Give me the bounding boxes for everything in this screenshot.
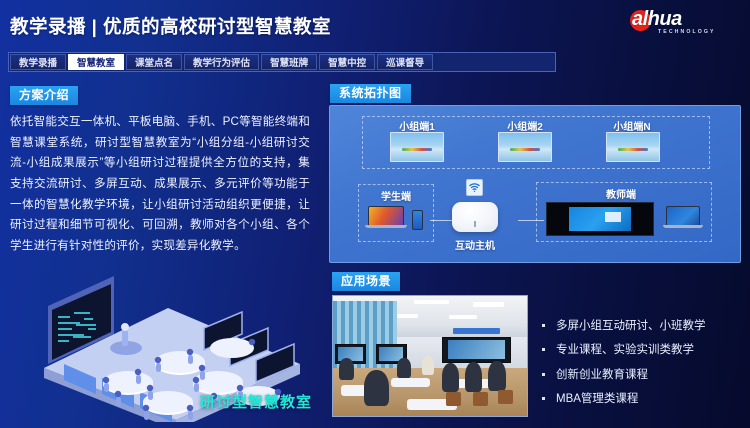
logo-tagline: TECHNOLOGY [658, 29, 716, 35]
tab-ketang-dianming[interactable]: 课堂点名 [126, 54, 182, 70]
photo-desk [391, 378, 430, 388]
node-label-host: 互动主机 [444, 237, 506, 252]
photo-person [364, 370, 389, 406]
tab-jiaoxue-lubo[interactable]: 教学录播 [10, 54, 66, 70]
photo-person [488, 361, 505, 391]
photo-ceiling-light [414, 300, 449, 305]
node-label-group2: 小组端2 [490, 118, 560, 133]
photo-chair [498, 390, 514, 404]
photo-chair [473, 392, 489, 406]
section-badge-topology: 系统拓扑图 [330, 84, 411, 103]
photo-chair [446, 392, 462, 406]
tab-zhihui-jiaoshi[interactable]: 智慧教室 [68, 54, 124, 70]
tab-xunke-dudao[interactable]: 巡课督导 [377, 54, 433, 70]
section-badge-plan: 方案介绍 [10, 86, 78, 105]
photo-ceiling-light [473, 302, 504, 307]
photo-main-display [442, 337, 512, 363]
group1-display-icon [390, 132, 444, 162]
photo-ceiling-light [449, 315, 476, 319]
photo-person [465, 362, 482, 392]
classroom-photo [332, 295, 528, 417]
list-item: 专业课程、实验实训类教学 [540, 340, 745, 361]
link-host-to-teacher [518, 220, 544, 221]
node-label-student: 学生端 [366, 188, 426, 203]
plan-description: 依托智能交互一体机、平板电脑、手机、PC等智能终端和智慧课堂系统，研讨型智慧教室… [10, 112, 310, 256]
photo-wall-banner [453, 328, 500, 334]
logo-wordmark: alhua [632, 8, 682, 31]
node-label-group1: 小组端1 [382, 118, 452, 133]
node-label-teacher: 教师端 [588, 186, 654, 201]
group2-display-icon [498, 132, 552, 162]
section-badge-scenes: 应用场景 [332, 272, 400, 291]
page-title: 教学录播 | 优质的高校研讨型智慧教室 [10, 13, 331, 39]
tab-zhihui-banpai[interactable]: 智慧班牌 [261, 54, 317, 70]
classroom-illustration-caption: 研讨型智慧教室 [200, 391, 312, 412]
teacher-laptop-icon [666, 206, 700, 232]
classroom-3d-illustration: 研讨型智慧教室 [18, 272, 318, 422]
page-header: 教学录播 | 优质的高校研讨型智慧教室 alhua TECHNOLOGY [0, 0, 750, 46]
node-label-groupN: 小组端N [596, 118, 668, 133]
photo-person [422, 356, 434, 375]
dahua-logo: alhua TECHNOLOGY [630, 8, 742, 38]
photo-person [339, 358, 355, 380]
list-item: MBA管理类课程 [540, 389, 745, 410]
groupN-display-icon [606, 132, 660, 162]
topology-panel: 小组端1 小组端2 小组端N 学生端 互动主机 教师端 [329, 105, 741, 263]
teacher-display-icon [546, 202, 654, 236]
student-phone-icon [412, 210, 423, 230]
student-laptop-icon [368, 206, 404, 232]
scene-bullet-list: 多屏小组互动研讨、小班教学 专业课程、实验实训类教学 创新创业教育课程 MBA管… [540, 316, 745, 413]
main-tabbar[interactable]: 教学录播 智慧教室 课堂点名 教学行为评估 智慧班牌 智慧中控 巡课督导 [8, 52, 556, 72]
wifi-icon [466, 179, 483, 196]
photo-person [397, 358, 411, 377]
list-item: 创新创业教育课程 [540, 365, 745, 386]
interactive-host-icon [452, 202, 498, 232]
tab-zhihui-zhongkong[interactable]: 智慧中控 [319, 54, 375, 70]
photo-person [442, 363, 459, 392]
tab-xingwei-pinggu[interactable]: 教学行为评估 [184, 54, 259, 70]
list-item: 多屏小组互动研讨、小班教学 [540, 316, 745, 337]
